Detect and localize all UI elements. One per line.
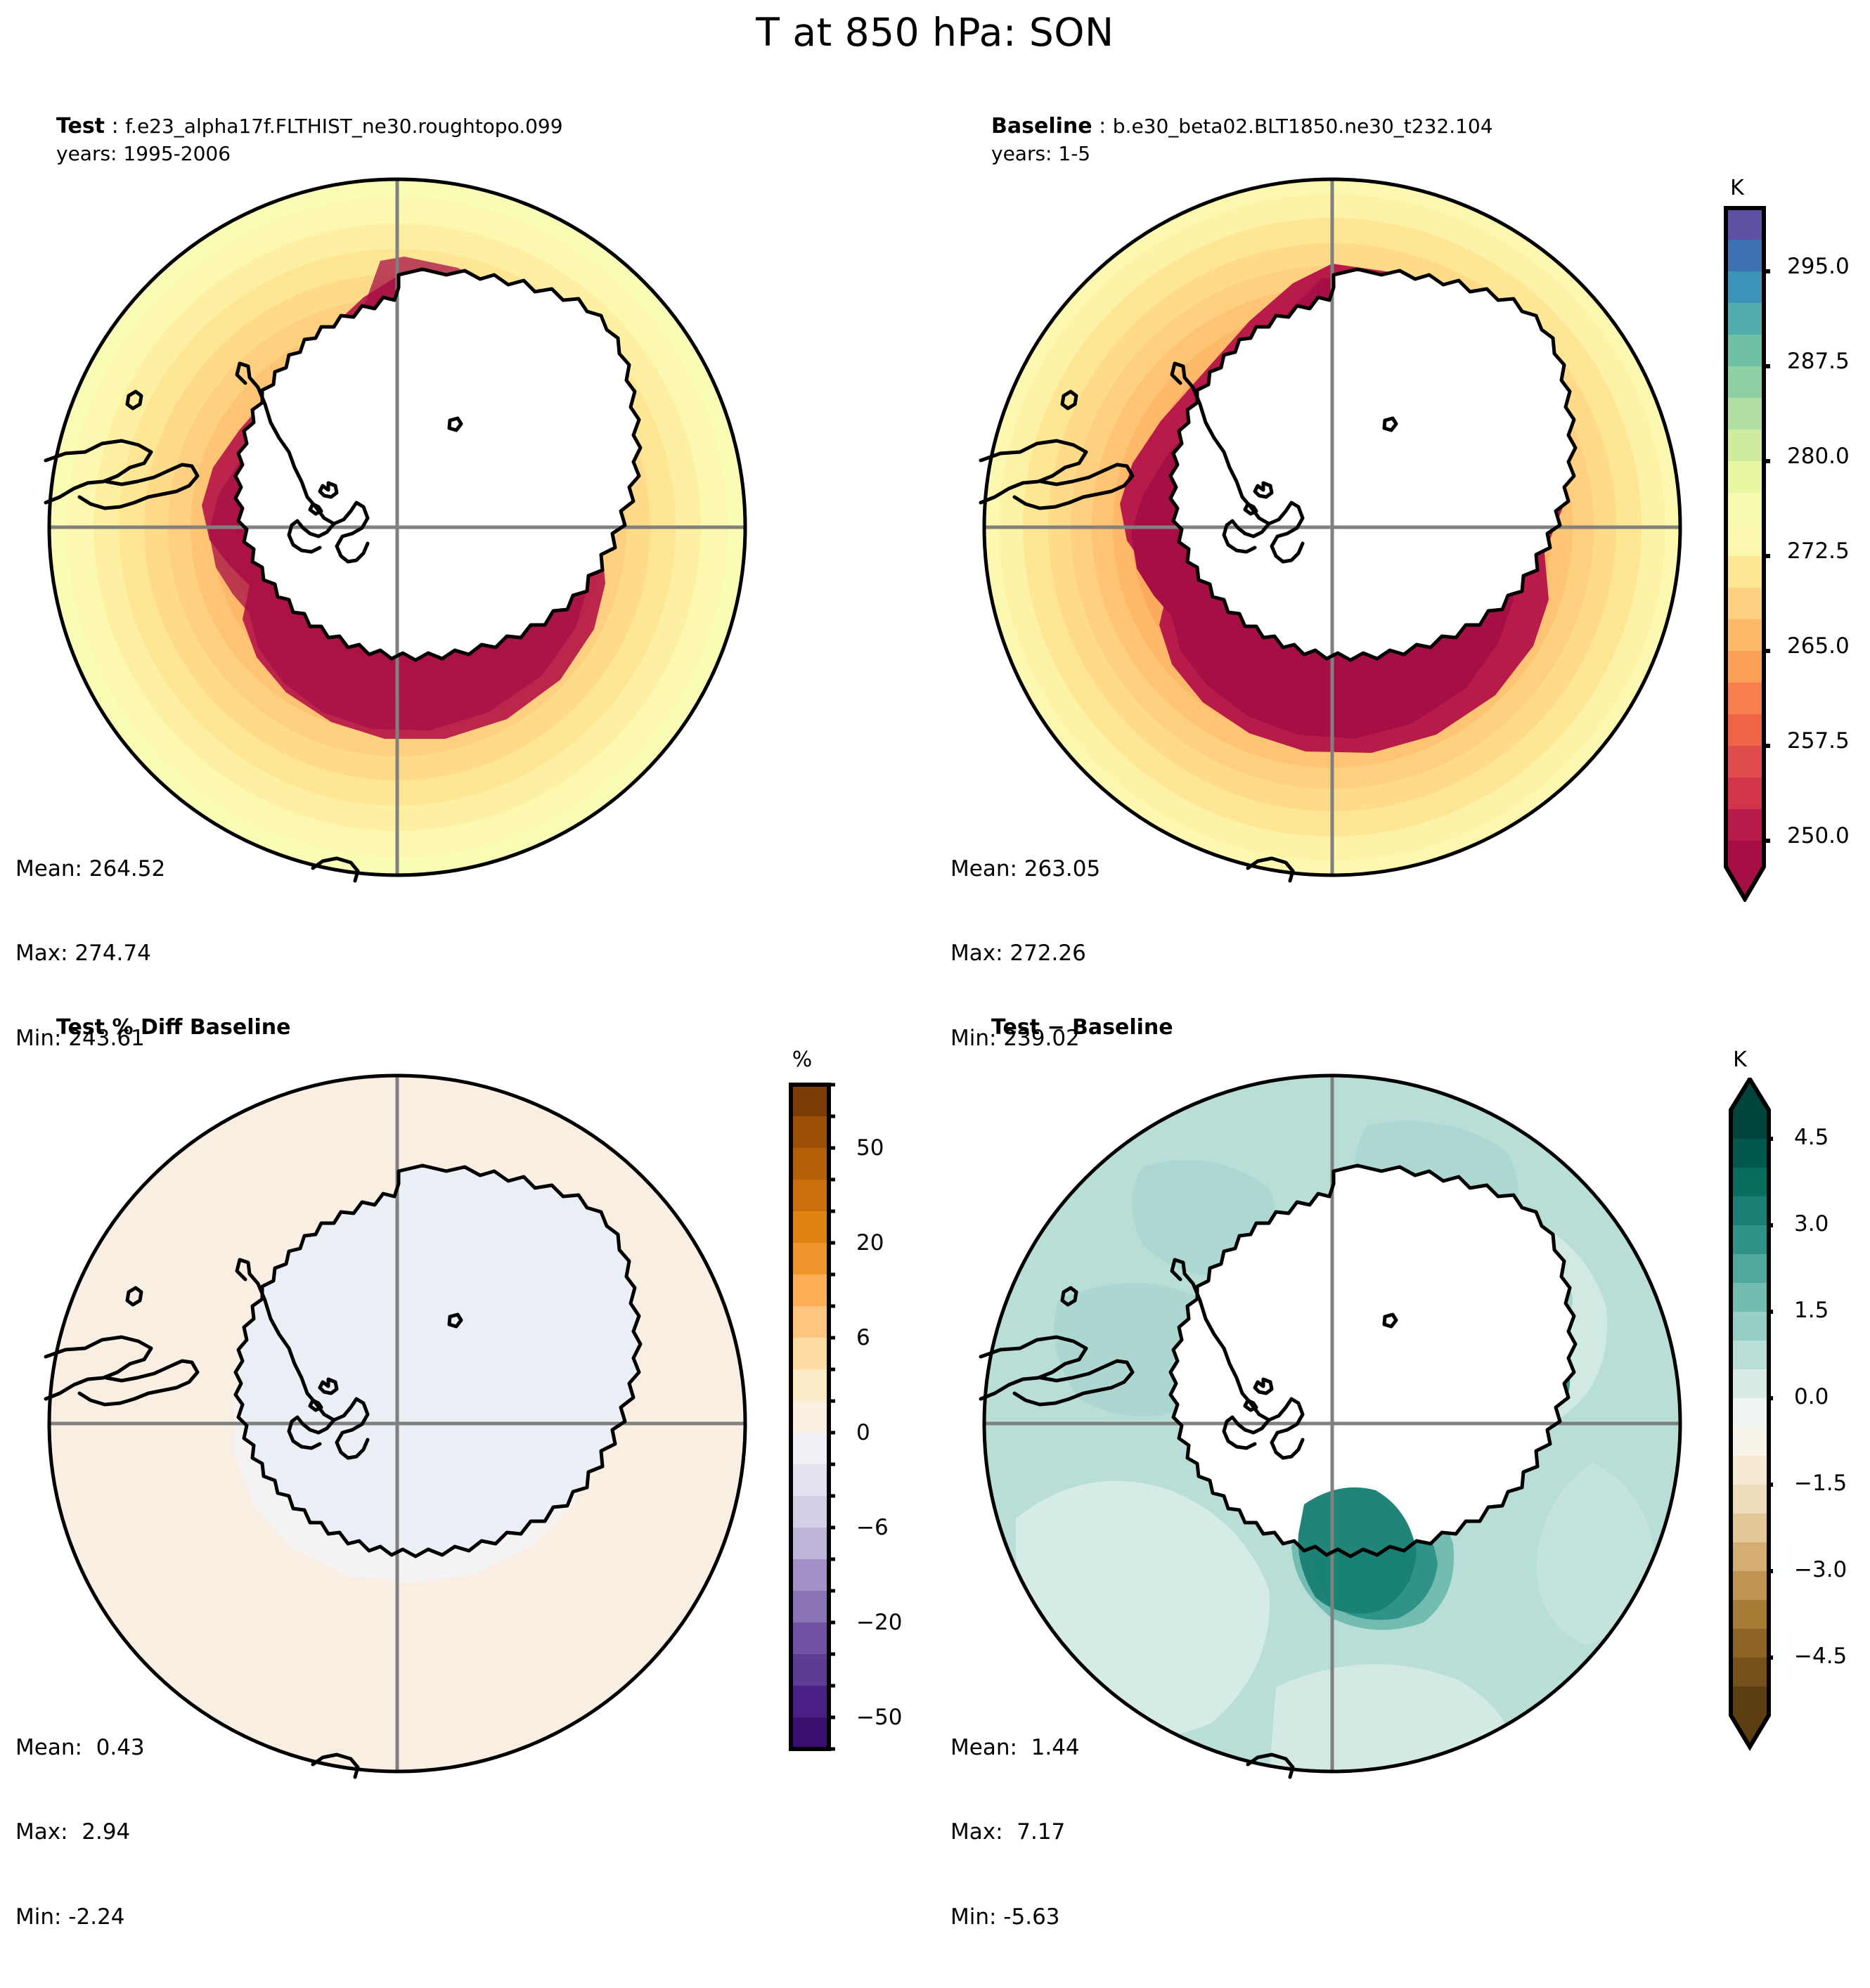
colorbar-main-tick-1: 287.5 (1787, 349, 1850, 374)
colorbar-pct-tick-3: 0 (856, 1420, 870, 1445)
panel-test: Test : f.e23_alpha17f.FLTHIST_ne30.rough… (0, 0, 935, 907)
panel-baseline-subtitle: years: 1-5 (991, 142, 1090, 165)
panel-absdiff-stats: Mean: 1.44 Max: 7.17 Min: -5.63 (950, 1677, 1080, 1988)
colorbar-main-tick-5: 257.5 (1787, 728, 1850, 754)
panel-test-map (39, 172, 826, 889)
panel-baseline-title-label: Baseline (991, 114, 1092, 138)
panel-pctdiff-title-label: Test % Diff Baseline (56, 1015, 291, 1040)
panel-absdiff-title-label: Test − Baseline (991, 1015, 1173, 1040)
panel-pctdiff-stats: Mean: 0.43 Max: 2.94 Min: -2.24 (15, 1677, 145, 1988)
colorbar-pct-tick-1: 20 (856, 1230, 884, 1256)
colorbar-main-tick-0: 295.0 (1787, 254, 1850, 279)
panel-pctdiff-max: Max: 2.94 (15, 1818, 145, 1846)
colorbar-main-unit: K (1713, 176, 1762, 200)
panel-absdiff-max: Max: 7.17 (950, 1818, 1080, 1846)
colorbar-pct-tick-0: 50 (856, 1135, 884, 1161)
panel-pctdiff-min: Min: -2.24 (15, 1903, 145, 1931)
panel-pctdiff-title: Test % Diff Baseline (56, 1014, 291, 1041)
colorbar-pct: % (773, 1047, 935, 1793)
colorbar-main: K (1708, 176, 1870, 928)
colorbar-pct-tick-5: −20 (856, 1610, 902, 1635)
colorbar-main-tick-2: 280.0 (1787, 444, 1850, 469)
colorbar-pct-gradient (789, 1083, 835, 1771)
colorbar-abs-tick-5: −3.0 (1794, 1557, 1847, 1582)
panel-baseline-title-value: b.e30_beta02.BLT1850.ne30_t232.104 (1113, 115, 1493, 138)
panel-baseline-title-sep: : (1092, 114, 1113, 138)
colorbar-pct-tick-4: −6 (856, 1515, 889, 1540)
panel-baseline-title: Baseline : b.e30_beta02.BLT1850.ne30_t23… (991, 112, 1493, 167)
colorbar-abs-tick-4: −1.5 (1794, 1471, 1847, 1496)
panel-test-title-value: f.e23_alpha17f.FLTHIST_ne30.roughtopo.09… (125, 115, 562, 138)
panel-absdiff-min: Min: -5.63 (950, 1903, 1080, 1931)
colorbar-main-tick-3: 272.5 (1787, 538, 1850, 564)
panel-test-title: Test : f.e23_alpha17f.FLTHIST_ne30.rough… (56, 112, 563, 167)
colorbar-abs-tick-1: 3.0 (1794, 1211, 1829, 1237)
colorbar-abs-gradient (1727, 1078, 1773, 1781)
colorbar-main-tick-6: 250.0 (1787, 823, 1850, 848)
panel-test-title-label: Test (56, 114, 105, 138)
colorbar-main-tick-4: 265.0 (1787, 633, 1850, 659)
colorbar-abs-tick-6: −4.5 (1794, 1644, 1847, 1669)
panel-baseline-mean: Mean: 263.05 (950, 855, 1100, 883)
panel-absdiff-mean: Mean: 1.44 (950, 1734, 1080, 1762)
colorbar-abs-unit: K (1715, 1047, 1765, 1072)
colorbar-abs: K (1701, 1047, 1870, 1800)
panel-pctdiff-map (39, 1069, 784, 1786)
panel-absdiff-title: Test − Baseline (991, 1014, 1173, 1041)
panel-test-subtitle: years: 1995-2006 (56, 142, 231, 165)
figure-canvas: T at 850 hPa: SON Test : f.e23_alpha17f.… (0, 0, 1870, 1803)
colorbar-pct-unit: % (778, 1047, 827, 1072)
colorbar-pct-tick-6: −50 (856, 1705, 902, 1730)
colorbar-abs-tick-0: 4.5 (1794, 1125, 1829, 1150)
panel-baseline-map (974, 172, 1761, 889)
colorbar-abs-tick-3: 0.0 (1794, 1384, 1829, 1409)
panel-test-title-sep: : (105, 114, 125, 138)
panel-test-mean: Mean: 264.52 (15, 855, 165, 883)
panel-absdiff-map (974, 1069, 1719, 1786)
colorbar-pct-tick-2: 6 (856, 1325, 870, 1350)
colorbar-abs-tick-2: 1.5 (1794, 1298, 1829, 1323)
panel-pctdiff-mean: Mean: 0.43 (15, 1734, 145, 1762)
colorbar-main-gradient (1724, 206, 1770, 902)
